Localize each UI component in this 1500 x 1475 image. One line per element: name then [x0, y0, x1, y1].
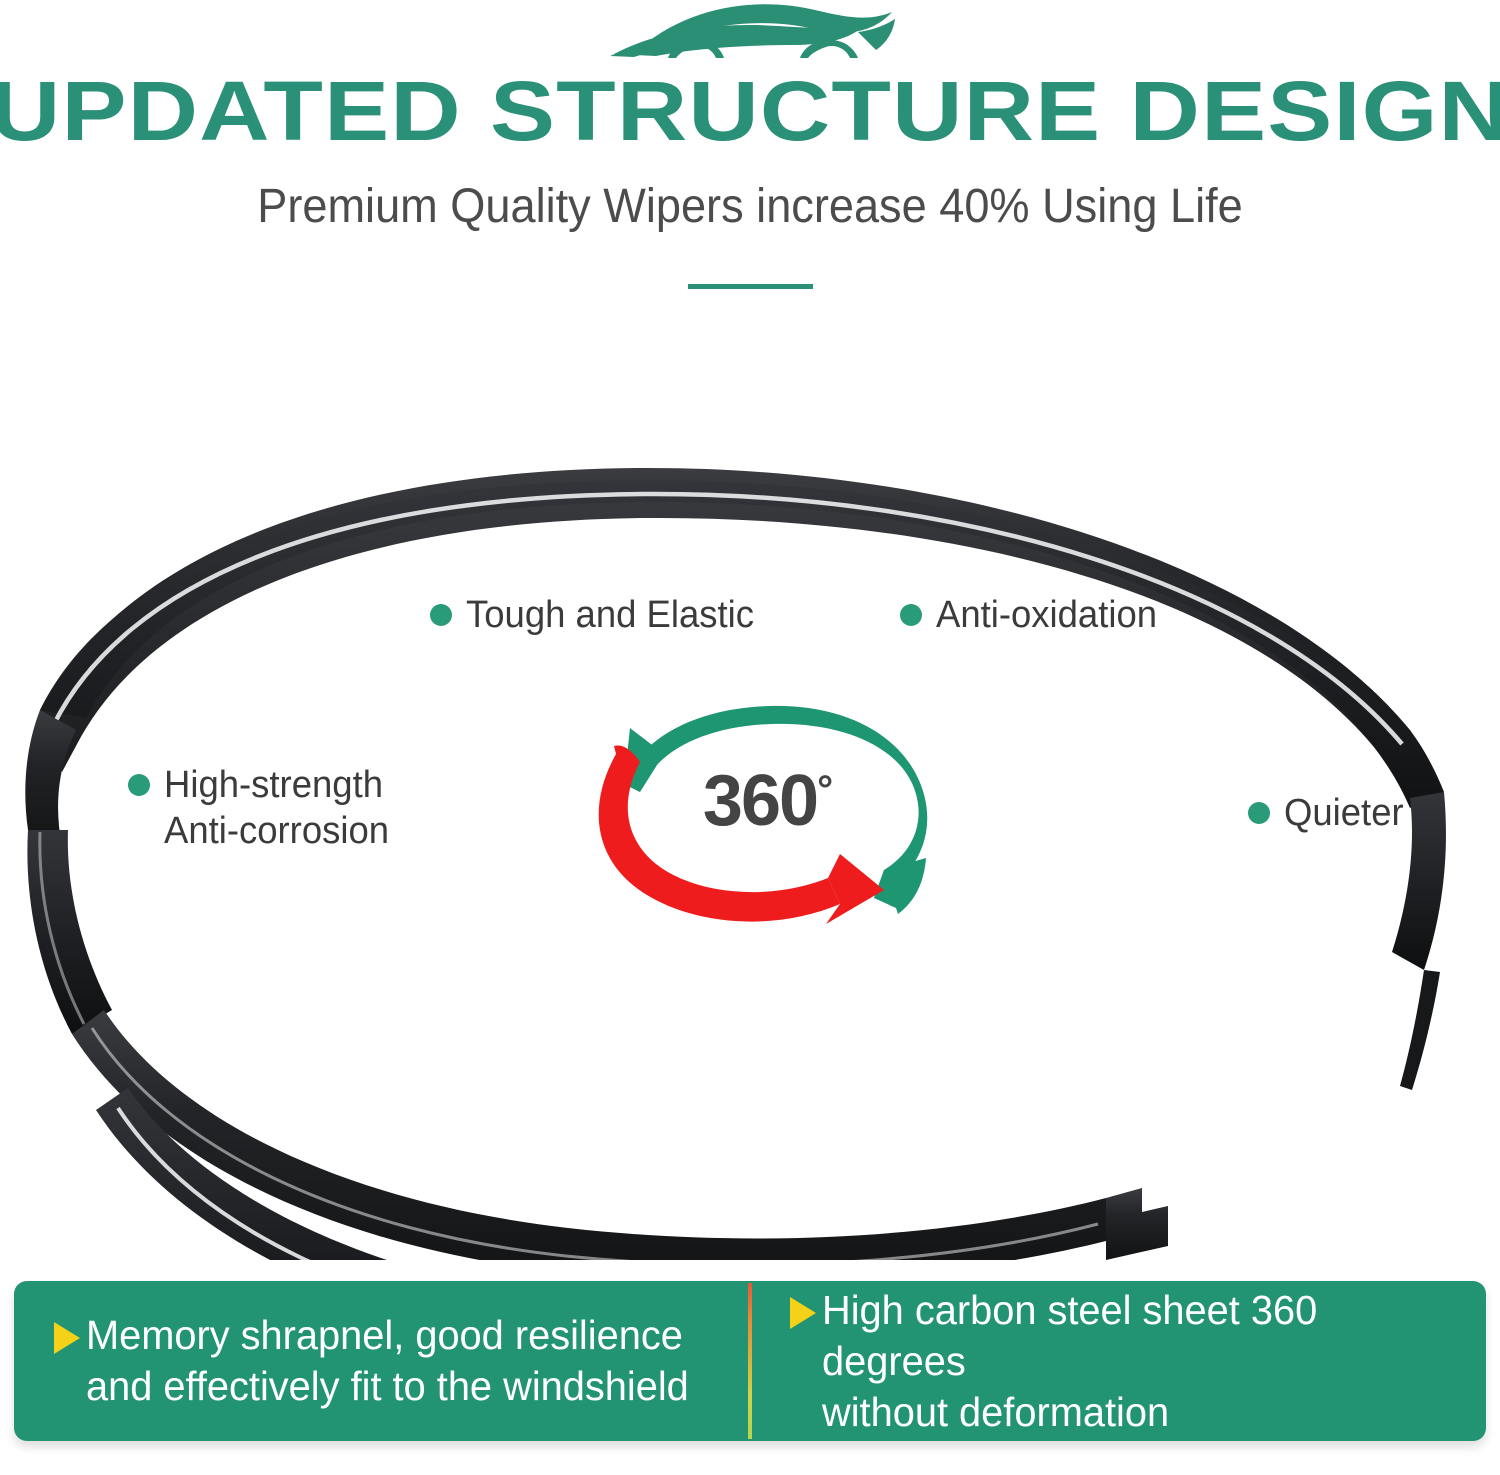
- callout-label: Tough and Elastic: [466, 592, 754, 638]
- bottom-feature-banner: Memory shrapnel, good resilience and eff…: [14, 1281, 1486, 1441]
- callout-high-strength-anti-corrosion: High-strength Anti-corrosion: [128, 762, 398, 854]
- header-section: UPDATED STRUCTURE DESIGN Premium Quality…: [0, 0, 1500, 310]
- badge-360-degree: 360°: [578, 692, 958, 932]
- triangle-right-icon: [790, 1297, 816, 1329]
- title-divider-rule: [688, 284, 813, 289]
- callout-label: Quieter: [1284, 790, 1404, 836]
- spline-end-notches: [1106, 1188, 1192, 1260]
- callout-label: Anti-oxidation: [936, 592, 1157, 638]
- spline-right-side: [1392, 792, 1446, 1090]
- car-silhouette-icon: [600, 4, 900, 66]
- banner-memory-shrapnel: Memory shrapnel, good resilience and eff…: [14, 1281, 750, 1441]
- bullet-dot-icon: [128, 774, 150, 796]
- bullet-dot-icon: [900, 604, 922, 626]
- callout-quieter: Quieter: [1248, 790, 1409, 836]
- callout-tough-and-elastic: Tough and Elastic: [430, 592, 766, 638]
- banner-high-carbon-steel: High carbon steel sheet 360 degrees with…: [750, 1281, 1486, 1441]
- banner-text: High carbon steel sheet 360 degrees with…: [822, 1285, 1445, 1438]
- callout-anti-oxidation: Anti-oxidation: [900, 592, 1166, 638]
- bullet-dot-icon: [1248, 802, 1270, 824]
- banner-text: Memory shrapnel, good resilience and eff…: [86, 1310, 689, 1412]
- rotation-arrows-icon: [578, 692, 958, 932]
- triangle-right-icon: [54, 1322, 80, 1354]
- product-hero-section: Tough and Elastic Anti-oxidation High-st…: [0, 310, 1500, 1260]
- spline-left-side: [27, 830, 112, 1034]
- bullet-dot-icon: [430, 604, 452, 626]
- page-subtitle: Premium Quality Wipers increase 40% Usin…: [45, 178, 1455, 236]
- page-title: UPDATED STRUCTURE DESIGN: [0, 66, 1500, 156]
- callout-label: High-strength Anti-corrosion: [164, 762, 389, 854]
